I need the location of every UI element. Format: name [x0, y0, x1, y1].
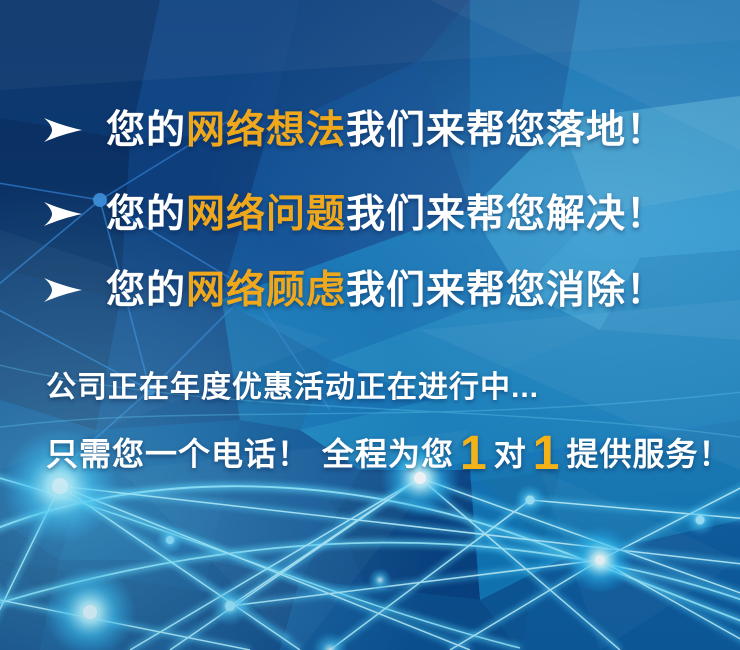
bullet-row-1: 您的网络想法我们来帮您落地！	[42, 102, 666, 158]
subline-service-middle: 对	[494, 429, 527, 475]
one-to-one-second-number: 1	[527, 432, 567, 475]
promo-banner: 您的网络想法我们来帮您落地！ 您的网络问题我们来帮您解决！ 您的网络顾虑我们来帮…	[0, 0, 740, 650]
arrow-right-icon	[42, 198, 84, 230]
subline-promotion: 公司正在年度优惠活动正在进行中...	[46, 362, 539, 406]
headline-1-suffix: 我们来帮您落地！	[346, 109, 666, 152]
headline-2-prefix: 您的	[106, 193, 186, 236]
headline-2-highlight: 网络问题	[186, 193, 346, 236]
headline-3-prefix: 您的	[106, 269, 186, 312]
subline-service-part2: 全程为您	[322, 429, 454, 475]
subline-service-part3: 提供服务！	[566, 429, 731, 475]
headline-3: 您的网络顾虑我们来帮您消除！	[106, 271, 666, 310]
arrow-right-icon	[42, 274, 84, 306]
subline-service: 只需您一个电话！ 全程为您 1 对 1 提供服务！	[46, 428, 731, 475]
headline-2-suffix: 我们来帮您解决！	[346, 193, 666, 236]
headline-1-prefix: 您的	[106, 109, 186, 152]
subline-service-part1: 只需您一个电话！	[46, 429, 310, 475]
headline-2: 您的网络问题我们来帮您解决！	[106, 195, 666, 234]
one-to-one-first-number: 1	[454, 432, 494, 475]
bullet-row-2: 您的网络问题我们来帮您解决！	[42, 186, 666, 242]
headline-3-highlight: 网络顾虑	[186, 269, 346, 312]
arrow-right-icon	[42, 114, 84, 146]
bullet-row-3: 您的网络顾虑我们来帮您消除！	[42, 262, 666, 318]
headline-1-highlight: 网络想法	[186, 109, 346, 152]
headline-3-suffix: 我们来帮您消除！	[346, 269, 666, 312]
banner-content: 您的网络想法我们来帮您落地！ 您的网络问题我们来帮您解决！ 您的网络顾虑我们来帮…	[0, 0, 740, 650]
headline-1: 您的网络想法我们来帮您落地！	[106, 111, 666, 150]
